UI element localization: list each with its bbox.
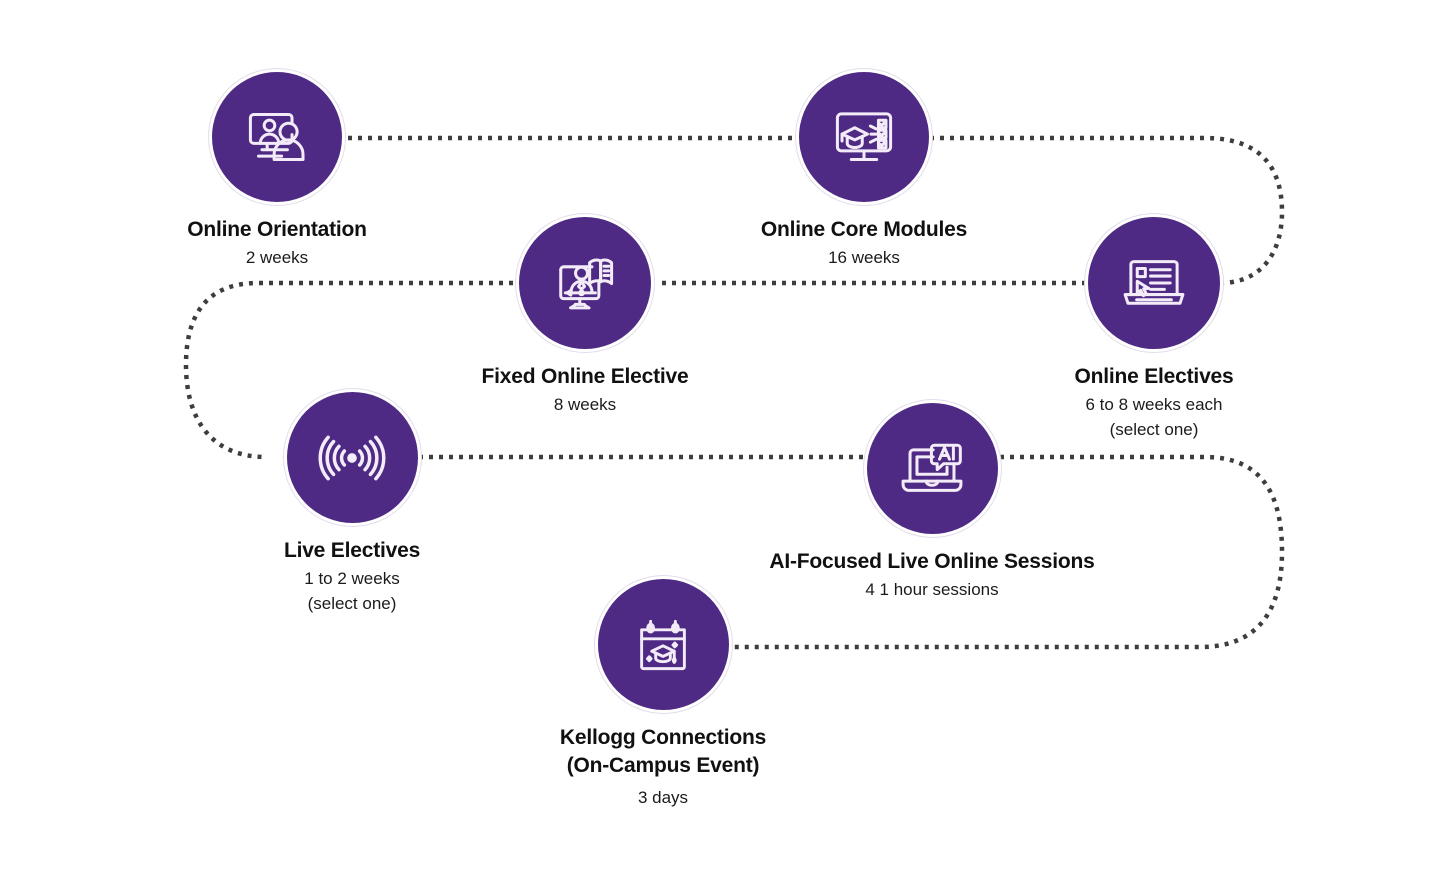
monitor-graduation-checklist-icon (827, 100, 901, 174)
node-title: Online Electives (944, 363, 1364, 391)
node-title: Kellogg Connections (On-Campus Event) (453, 724, 873, 779)
node-title: Live Electives (142, 537, 562, 565)
node-circle-online-core-modules[interactable] (799, 72, 929, 202)
node-ai-live-sessions[interactable]: AI-Focused Live Online Sessions 4 1 hour… (722, 403, 1142, 601)
node-circle-online-electives[interactable] (1088, 217, 1220, 349)
monitor-instructor-book-icon (548, 246, 622, 320)
laptop-checklist-cursor-icon (1117, 246, 1191, 320)
monitor-people-icon (240, 100, 314, 174)
node-fixed-online-elective[interactable]: Fixed Online Elective 8 weeks (375, 217, 795, 416)
node-title: Fixed Online Elective (375, 363, 795, 391)
node-title: AI-Focused Live Online Sessions (722, 548, 1142, 576)
node-circle-ai-live-sessions[interactable] (867, 403, 998, 534)
node-circle-fixed-online-elective[interactable] (519, 217, 651, 349)
node-title-line1: Kellogg Connections (453, 724, 873, 752)
node-duration: 3 days (453, 787, 873, 810)
node-circle-kellogg-connections[interactable] (598, 579, 729, 710)
diagram-canvas: Online Orientation 2 weeks (0, 0, 1440, 870)
broadcast-signal-icon (316, 422, 388, 494)
node-kellogg-connections[interactable]: Kellogg Connections (On-Campus Event) 3 … (453, 579, 873, 810)
node-title-line2: (On-Campus Event) (453, 752, 873, 780)
calendar-graduation-cap-icon (627, 609, 699, 681)
node-circle-online-orientation[interactable] (212, 72, 342, 202)
laptop-ai-bubble-icon (895, 432, 969, 506)
node-circle-live-electives[interactable] (287, 392, 418, 523)
